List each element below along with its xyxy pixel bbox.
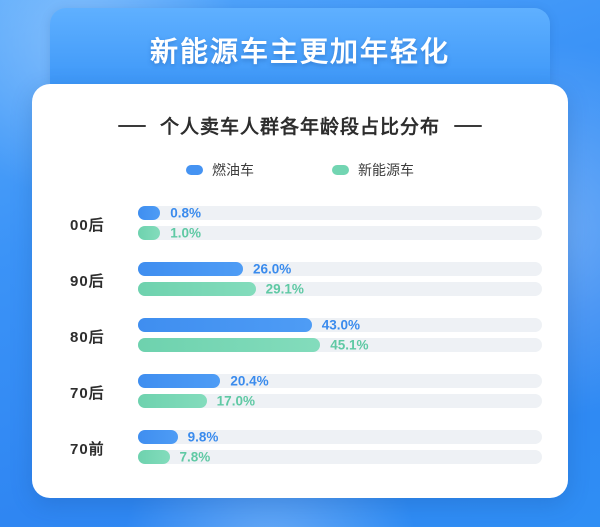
bar-fuel: [138, 318, 312, 332]
bar-track-wrap: 26.0%29.1%: [138, 252, 542, 308]
bar-track: 0.8%: [138, 206, 542, 220]
bar-value-label: 1.0%: [170, 226, 201, 241]
bar-track-wrap: 20.4%17.0%: [138, 364, 542, 420]
bar-track: 29.1%: [138, 282, 542, 296]
bar-track: 7.8%: [138, 450, 542, 464]
bar-nev: [138, 282, 256, 296]
chart-legend: 燃油车 新能源车: [32, 160, 568, 180]
category-label: 80后: [70, 308, 136, 364]
chart-subtitle: 个人卖车人群各年龄段占比分布: [160, 112, 440, 139]
rule-left-decoration: [118, 125, 146, 127]
bar-fuel: [138, 262, 243, 276]
bar-value-label: 20.4%: [230, 374, 268, 389]
bar-group: 90后26.0%29.1%: [32, 252, 568, 308]
bar-value-label: 45.1%: [330, 338, 368, 353]
bar-track-wrap: 9.8%7.8%: [138, 420, 542, 476]
legend-label-nev: 新能源车: [358, 160, 414, 180]
bar-fuel: [138, 374, 220, 388]
bar-track: 1.0%: [138, 226, 542, 240]
title-banner: 新能源车主更加年轻化: [50, 8, 550, 86]
bar-value-label: 43.0%: [322, 318, 360, 333]
bar-track-wrap: 43.0%45.1%: [138, 308, 542, 364]
bar-value-label: 9.8%: [188, 430, 219, 445]
bar-nev: [138, 338, 320, 352]
bar-group: 00后0.8%1.0%: [32, 196, 568, 252]
category-label: 70后: [70, 364, 136, 420]
infographic-page: 新能源车主更加年轻化 个人卖车人群各年龄段占比分布 燃油车 新能源车 00后0.…: [0, 0, 600, 527]
bar-track-wrap: 0.8%1.0%: [138, 196, 542, 252]
bar-nev: [138, 450, 170, 464]
bar-track: 43.0%: [138, 318, 542, 332]
bar-track: 45.1%: [138, 338, 542, 352]
chart-subtitle-row: 个人卖车人群各年龄段占比分布: [32, 112, 568, 139]
legend-swatch-nev: [332, 165, 349, 175]
bar-value-label: 26.0%: [253, 262, 291, 277]
bar-value-label: 29.1%: [266, 282, 304, 297]
bar-fuel: [138, 206, 160, 220]
bar-group: 70前9.8%7.8%: [32, 420, 568, 476]
bar-group: 70后20.4%17.0%: [32, 364, 568, 420]
bar-nev: [138, 226, 160, 240]
bar-track: 20.4%: [138, 374, 542, 388]
legend-item-nev: 新能源车: [332, 160, 414, 180]
category-label: 90后: [70, 252, 136, 308]
legend-swatch-fuel: [186, 165, 203, 175]
bar-track: 17.0%: [138, 394, 542, 408]
rule-right-decoration: [454, 125, 482, 127]
legend-label-fuel: 燃油车: [212, 160, 254, 180]
legend-item-fuel: 燃油车: [186, 160, 254, 180]
grouped-bar-chart: 00后0.8%1.0%90后26.0%29.1%80后43.0%45.1%70后…: [32, 196, 568, 488]
bar-value-label: 0.8%: [170, 206, 201, 221]
bar-value-label: 7.8%: [180, 450, 211, 465]
category-label: 70前: [70, 420, 136, 476]
category-label: 00后: [70, 196, 136, 252]
bar-track: 26.0%: [138, 262, 542, 276]
chart-card: 个人卖车人群各年龄段占比分布 燃油车 新能源车 00后0.8%1.0%90后26…: [32, 84, 568, 498]
bar-nev: [138, 394, 207, 408]
bar-track: 9.8%: [138, 430, 542, 444]
bar-group: 80后43.0%45.1%: [32, 308, 568, 364]
bar-value-label: 17.0%: [217, 394, 255, 409]
page-title: 新能源车主更加年轻化: [50, 30, 550, 70]
bar-fuel: [138, 430, 178, 444]
